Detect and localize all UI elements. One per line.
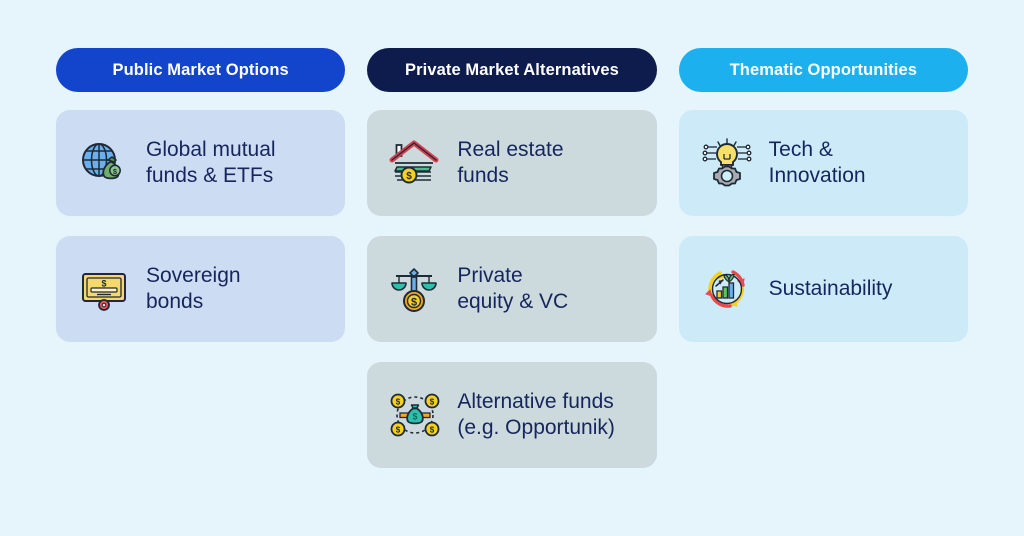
column-thematic-opportunities: Thematic Opportunities	[679, 48, 968, 362]
card-sovereign-bonds[interactable]: $ Sovereign bonds	[56, 236, 345, 342]
house-cash-icon: $	[389, 137, 441, 189]
column-header-thematic-opportunities[interactable]: Thematic Opportunities	[679, 48, 968, 92]
card-real-estate-funds[interactable]: $ Real estate funds	[367, 110, 656, 216]
column-private-market-alternatives: Private Market Alternatives $ Real estat…	[367, 48, 656, 488]
card-label: Private equity & VC	[457, 263, 568, 314]
investment-options-board: Public Market Options $ Global mutual fu…	[0, 0, 1024, 536]
scales-coin-icon: $	[389, 263, 441, 315]
svg-text:$: $	[101, 279, 106, 289]
svg-text:$: $	[407, 171, 413, 182]
card-label: Alternative funds (e.g. Opportunik)	[457, 389, 615, 440]
svg-text:$: $	[411, 297, 417, 309]
card-global-mutual-funds[interactable]: $ Global mutual funds & ETFs	[56, 110, 345, 216]
column-public-market-options: Public Market Options $ Global mutual fu…	[56, 48, 345, 362]
card-tech-innovation[interactable]: Tech & Innovation	[679, 110, 968, 216]
svg-text:$: $	[413, 412, 418, 422]
column-header-private-market-alternatives[interactable]: Private Market Alternatives	[367, 48, 656, 92]
card-label: Sustainability	[769, 276, 893, 302]
card-label: Tech & Innovation	[769, 137, 866, 188]
svg-text:$: $	[430, 398, 435, 407]
money-bag-network-icon: $ $ $ $ $	[389, 389, 441, 441]
card-label: Real estate funds	[457, 137, 563, 188]
lightbulb-gear-icon	[701, 137, 753, 189]
card-private-equity-vc[interactable]: $ Private equity & VC	[367, 236, 656, 342]
svg-text:$: $	[430, 426, 435, 435]
svg-text:$: $	[396, 426, 401, 435]
card-sustainability[interactable]: Sustainability	[679, 236, 968, 342]
recycle-chart-plant-icon	[701, 263, 753, 315]
bond-certificate-icon: $	[78, 263, 130, 315]
globe-money-bag-icon: $	[78, 137, 130, 189]
svg-text:$: $	[396, 398, 401, 407]
column-header-public-market-options[interactable]: Public Market Options	[56, 48, 345, 92]
card-label: Global mutual funds & ETFs	[146, 137, 276, 188]
card-alternative-funds[interactable]: $ $ $ $ $ Alternative funds (e.g. Opport…	[367, 362, 656, 468]
card-label: Sovereign bonds	[146, 263, 241, 314]
